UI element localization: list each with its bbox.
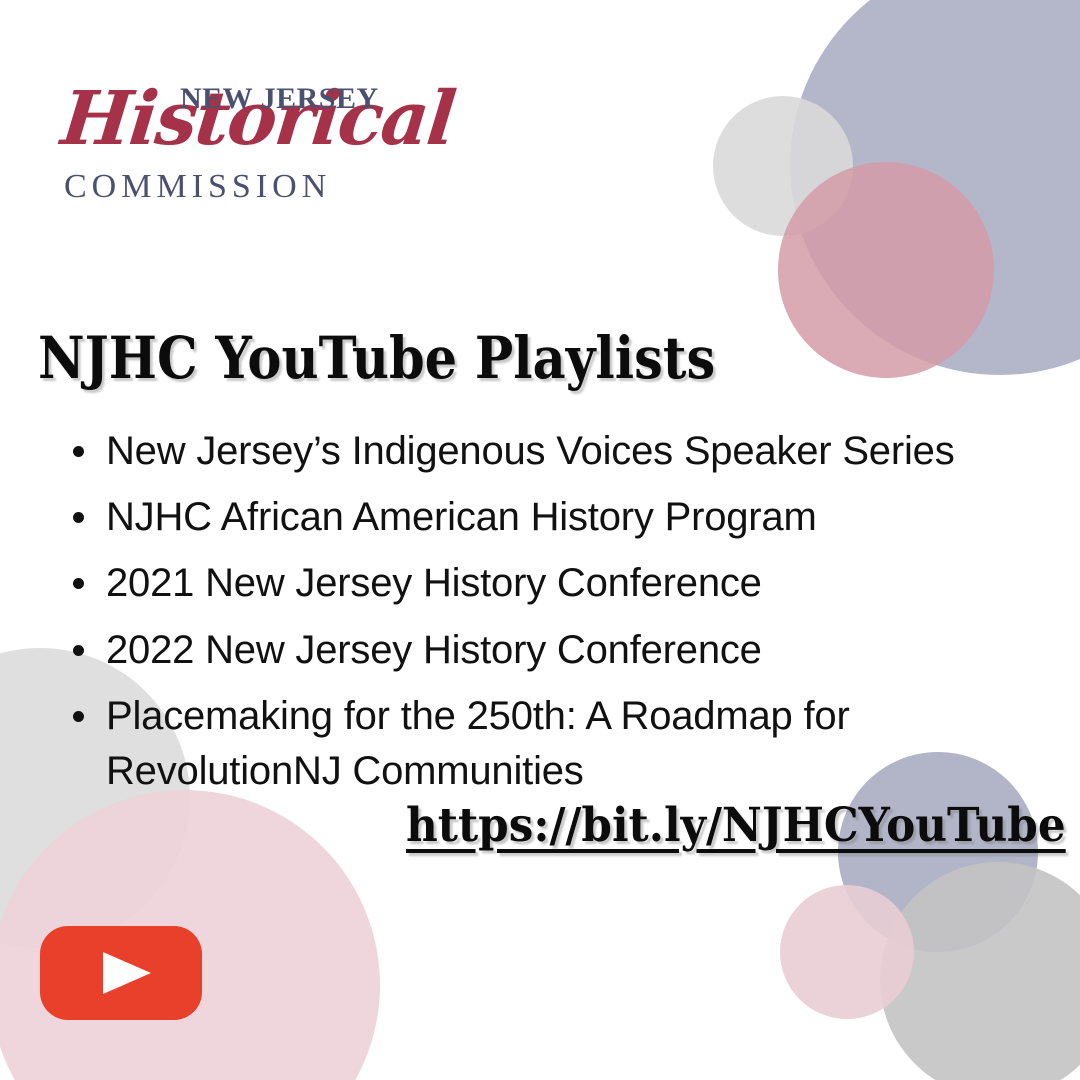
playlist-url-link[interactable]: https://bit.ly/NJHCYouTube [406, 800, 1066, 852]
playlist-label: 2021 New Jersey History Conference [106, 556, 1054, 611]
playlist-list: New Jersey’s Indigenous Voices Speaker S… [64, 424, 1054, 810]
rose-circle-top-right [778, 162, 994, 378]
bullet-icon [73, 512, 84, 523]
logo-text-new-jersey: NEW JERSEY [180, 84, 379, 114]
playlist-label: Placemaking for the 250th: A Roadmap for… [106, 689, 1054, 799]
logo-text-commission: COMMISSION [64, 170, 331, 204]
list-item: New Jersey’s Indigenous Voices Speaker S… [64, 424, 1054, 479]
bullet-icon [73, 446, 84, 457]
list-item: 2021 New Jersey History Conference [64, 556, 1054, 611]
playlist-label: 2022 New Jersey History Conference [106, 623, 1054, 678]
poster-canvas: Historical NEW JERSEY COMMISSION NJHC Yo… [0, 0, 1080, 1080]
bullet-icon [73, 645, 84, 656]
bullet-icon [73, 711, 84, 722]
list-item: 2022 New Jersey History Conference [64, 623, 1054, 678]
grey-circle-bottom-right [880, 862, 1080, 1080]
periwinkle-circle-top-right [790, 0, 1080, 375]
list-item: Placemaking for the 250th: A Roadmap for… [64, 689, 1054, 799]
bullet-icon [73, 578, 84, 589]
playlist-label: New Jersey’s Indigenous Voices Speaker S… [106, 424, 1054, 479]
njhc-logo: Historical NEW JERSEY COMMISSION [62, 58, 362, 218]
grey-circle-top-right [713, 96, 853, 236]
page-title: NJHC YouTube Playlists [38, 327, 715, 391]
pink-circle-bottom-right [780, 885, 914, 1019]
youtube-icon[interactable] [40, 926, 202, 1020]
playlist-label: NJHC African American History Program [106, 490, 1054, 545]
list-item: NJHC African American History Program [64, 490, 1054, 545]
